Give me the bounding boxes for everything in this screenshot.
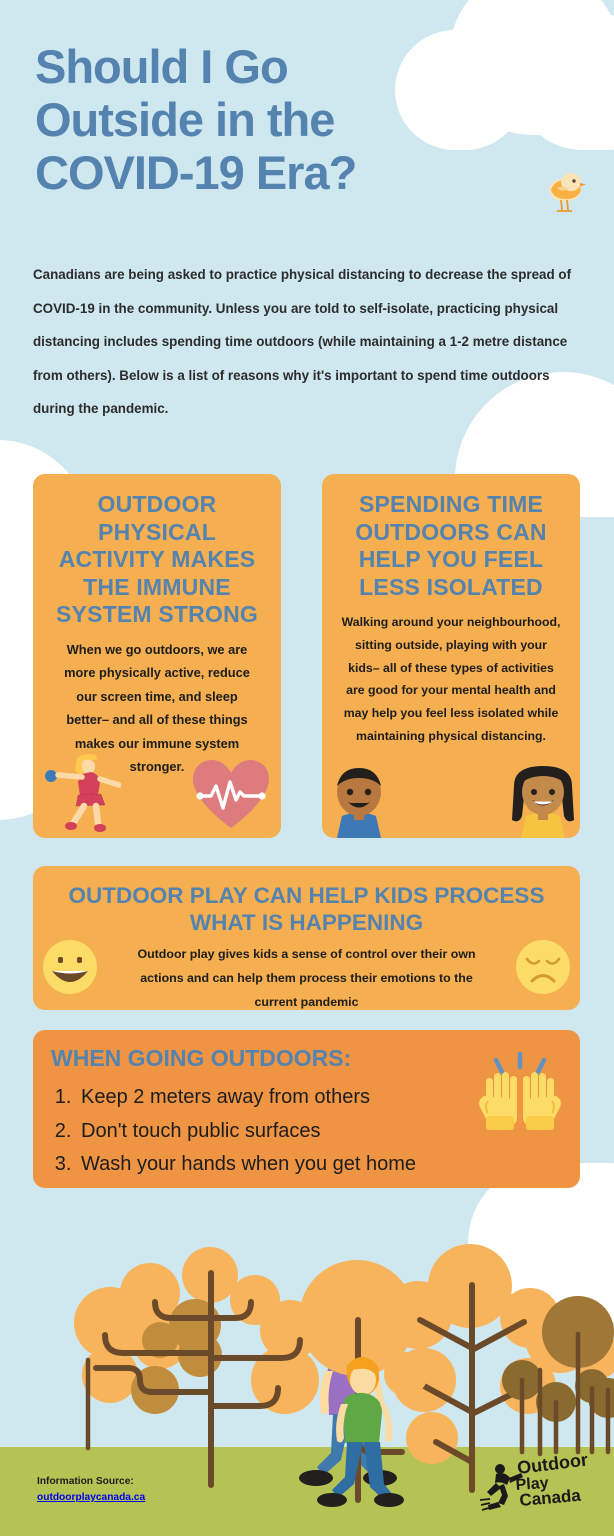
boy-face-icon bbox=[328, 766, 390, 838]
infographic-page: Should I Go Outside in the COVID-19 Era?… bbox=[0, 0, 614, 1536]
girl-face-icon bbox=[510, 764, 576, 838]
sad-face-icon bbox=[514, 938, 572, 996]
card-less-isolated: SPENDING TIME OUTDOORS CAN HELP YOU FEEL… bbox=[322, 474, 580, 838]
bird-icon bbox=[543, 168, 587, 216]
card-when-going-outdoors: WHEN GOING OUTDOORS: Keep 2 meters away … bbox=[33, 1030, 580, 1188]
card-process-heading: OUTDOOR PLAY CAN HELP KIDS PROCESS WHAT … bbox=[33, 866, 580, 936]
grinning-face-icon bbox=[41, 938, 99, 996]
intro-paragraph: Canadians are being asked to practice ph… bbox=[33, 258, 573, 426]
card-process-body: Outdoor play gives kids a sense of contr… bbox=[33, 936, 580, 1014]
page-title: Should I Go Outside in the COVID-19 Era? bbox=[35, 40, 505, 199]
footer-source: Information Source: outdoorplaycanada.ca bbox=[37, 1474, 145, 1506]
outdoor-play-canada-logo: Outdoor Play Canada bbox=[476, 1452, 592, 1514]
source-label: Information Source: bbox=[37, 1476, 134, 1487]
title-line-1: Should I Go bbox=[35, 40, 505, 93]
list-item: Wash your hands when you get home bbox=[77, 1148, 580, 1182]
raised-hands-icon bbox=[474, 1048, 566, 1140]
heart-pulse-icon bbox=[191, 758, 271, 832]
card-process-feelings: OUTDOOR PLAY CAN HELP KIDS PROCESS WHAT … bbox=[33, 866, 580, 1010]
title-line-2: Outside in the bbox=[35, 93, 505, 146]
title-line-3: COVID-19 Era? bbox=[35, 146, 505, 199]
tree-left bbox=[74, 1247, 320, 1485]
source-link[interactable]: outdoorplaycanada.ca bbox=[37, 1490, 145, 1506]
card-isolated-body: Walking around your neighbourhood, sitti… bbox=[322, 601, 580, 748]
logo-word-canada: Canada bbox=[519, 1486, 582, 1510]
logo-word-outdoor: Outdoor bbox=[516, 1452, 589, 1478]
card-immune-heading: OUTDOOR PHYSICAL ACTIVITY MAKES THE IMMU… bbox=[33, 474, 281, 629]
athlete-icon bbox=[43, 752, 121, 834]
card-immune-system: OUTDOOR PHYSICAL ACTIVITY MAKES THE IMMU… bbox=[33, 474, 281, 838]
card-isolated-heading: SPENDING TIME OUTDOORS CAN HELP YOU FEEL… bbox=[322, 474, 580, 601]
